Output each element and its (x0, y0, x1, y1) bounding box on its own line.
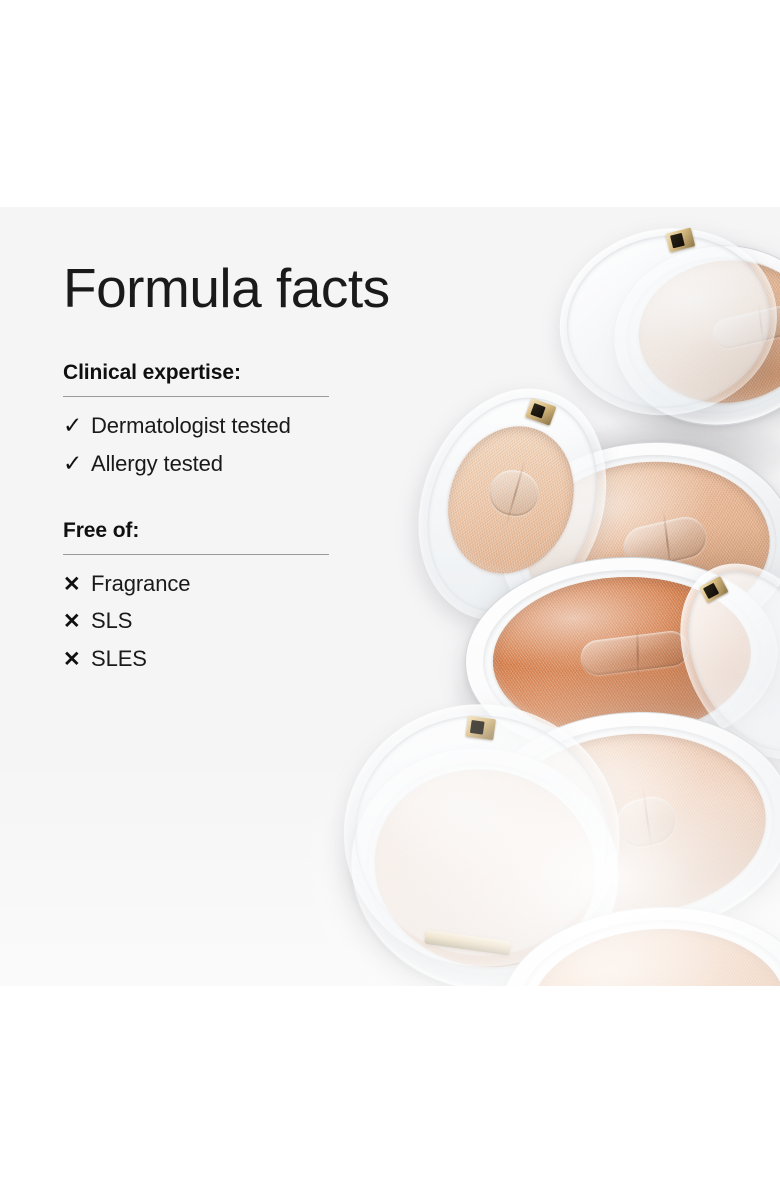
compact-base (462, 701, 780, 947)
powder-sheen (494, 725, 772, 923)
compact-base (604, 235, 780, 436)
powder-sheen (354, 746, 617, 986)
powder-sheen (519, 452, 777, 643)
powder-sheen (632, 252, 780, 412)
powder-texture (519, 452, 777, 643)
brand-emboss (486, 466, 542, 519)
compact-bottom (495, 899, 780, 986)
compact-upper-right (491, 429, 780, 669)
lid-glass (553, 219, 780, 424)
compact-lid (648, 536, 780, 786)
powder-pan (489, 571, 755, 744)
section-clinical-expertise: Clinical expertise: ✓ Dermatologist test… (63, 361, 463, 477)
lid-clasp (465, 715, 496, 740)
section-divider (63, 396, 329, 397)
formula-facts-text: Formula facts Clinical expertise: ✓ Derm… (63, 260, 463, 672)
list-item: ✕ SLES (63, 646, 463, 672)
powder-texture (632, 252, 780, 412)
section-divider (63, 554, 329, 555)
powder-pan (519, 452, 777, 643)
contact-shadow-mid (452, 655, 752, 733)
compact-middle-terracotta (460, 549, 780, 770)
lid-glass (339, 699, 624, 972)
compact-lid (545, 211, 780, 432)
compact-base (324, 719, 645, 986)
compact-lower-right (462, 701, 780, 953)
list-item-label: SLES (91, 646, 147, 672)
compact-hinge (603, 621, 722, 650)
compact-lower-left (309, 675, 670, 986)
check-icon: ✓ (63, 452, 91, 475)
clasp-inset (530, 403, 546, 419)
clasp-inset (703, 583, 719, 599)
powder-pan (526, 923, 780, 986)
lid-clasp (699, 576, 729, 603)
brand-emboss (619, 513, 709, 571)
section-heading: Free of: (63, 519, 463, 543)
gold-rim (545, 211, 780, 432)
clinical-expertise-list: ✓ Dermatologist tested ✓ Allergy tested (63, 413, 463, 477)
list-item-label: Dermatologist tested (91, 413, 291, 439)
brand-emboss (579, 629, 691, 677)
powder-pan (354, 746, 617, 986)
gold-rim (648, 536, 780, 786)
powder-texture (354, 746, 617, 986)
content-panel: Formula facts Clinical expertise: ✓ Derm… (0, 207, 780, 986)
clasp-inset (470, 720, 485, 735)
list-item: ✕ SLS (63, 608, 463, 634)
contact-shadow-low (376, 897, 706, 985)
section-heading: Clinical expertise: (63, 361, 463, 385)
lid-clasp (525, 398, 556, 426)
list-item-label: Allergy tested (91, 451, 223, 477)
compact-top-right (550, 214, 780, 439)
list-item: ✕ Fragrance (63, 571, 463, 597)
powder-sheen (526, 923, 780, 986)
compact-lid (327, 687, 637, 985)
list-item: ✓ Dermatologist tested (63, 413, 463, 439)
powder-pan (494, 725, 772, 923)
lid-glass (659, 547, 780, 776)
gold-rim (327, 687, 637, 985)
cross-icon: ✕ (63, 649, 91, 670)
section-free-of: Free of: ✕ Fragrance ✕ SLS ✕ SLES (63, 519, 463, 672)
compact-base (495, 899, 780, 986)
powder-sheen (489, 571, 755, 744)
powder-pan (632, 252, 780, 412)
compact-right-lid (648, 532, 780, 792)
free-of-list: ✕ Fragrance ✕ SLS ✕ SLES (63, 571, 463, 672)
list-item-label: SLS (91, 608, 132, 634)
powder-texture (489, 571, 755, 744)
page-title: Formula facts (63, 260, 463, 317)
brand-emboss (612, 792, 680, 852)
cross-icon: ✕ (63, 574, 91, 595)
contact-shadow-top (556, 419, 780, 489)
list-item-label: Fragrance (91, 571, 190, 597)
compact-base (491, 430, 780, 665)
check-icon: ✓ (63, 414, 91, 437)
compact-base (460, 549, 780, 765)
lid-clasp (665, 228, 695, 253)
clasp-inset (670, 233, 685, 248)
product-info-card: Formula facts Clinical expertise: ✓ Derm… (0, 0, 780, 1196)
powder-texture (494, 725, 772, 923)
list-item: ✓ Allergy tested (63, 451, 463, 477)
brand-emboss (710, 301, 780, 351)
compact-hinge (424, 930, 511, 956)
powder-texture (526, 923, 780, 986)
cross-icon: ✕ (63, 611, 91, 632)
